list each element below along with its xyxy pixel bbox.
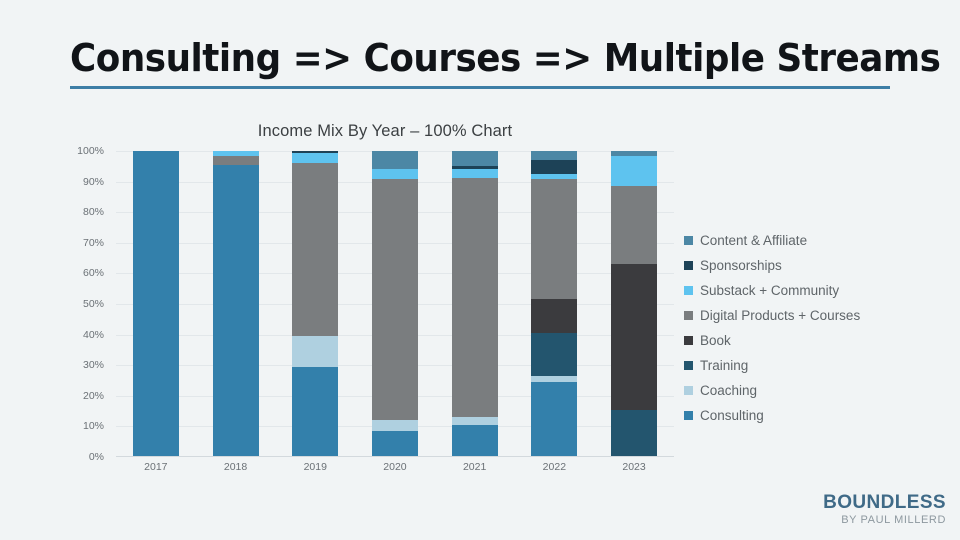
bar-segment[interactable]	[531, 179, 577, 300]
bar-segment[interactable]	[531, 382, 577, 457]
bar-segment[interactable]	[452, 169, 498, 178]
slide-title-block: Consulting => Courses => Multiple Stream…	[70, 38, 890, 89]
y-axis-tick-label: 0%	[89, 451, 104, 463]
x-axis-tick-label: 2019	[292, 461, 338, 473]
y-axis-tick-label: 10%	[83, 420, 104, 432]
legend-item-label: Book	[700, 333, 731, 348]
x-axis-tick-label: 2017	[133, 461, 179, 473]
y-axis-tick-label: 20%	[83, 390, 104, 402]
y-axis-tick-label: 70%	[83, 237, 104, 249]
legend-item-label: Training	[700, 358, 748, 373]
bar-segment[interactable]	[452, 178, 498, 417]
legend-swatch-icon	[684, 286, 693, 295]
stacked-bars	[116, 151, 674, 457]
y-axis-tick-label: 90%	[83, 176, 104, 188]
bar-segment[interactable]	[372, 169, 418, 178]
y-axis: 100%90%80%70%60%50%40%30%20%10%0%	[60, 151, 110, 457]
bar-segment[interactable]	[611, 186, 657, 264]
x-axis-tick-label: 2022	[531, 461, 577, 473]
brand-logo: BOUNDLESS BY PAUL MILLERD	[823, 493, 946, 526]
legend-item[interactable]: Sponsorships	[684, 253, 934, 278]
legend-item-label: Coaching	[700, 383, 757, 398]
legend-item[interactable]: Substack + Community	[684, 278, 934, 303]
bar-segment[interactable]	[292, 367, 338, 457]
bar-segment[interactable]	[292, 336, 338, 367]
logo-main-text: BOUNDLESS	[823, 493, 946, 512]
bar-segment[interactable]	[452, 151, 498, 166]
bar-segment[interactable]	[292, 163, 338, 336]
x-axis: 2017201820192020202120222023	[116, 461, 674, 473]
legend-item-label: Substack + Community	[700, 283, 839, 298]
page-title: Consulting => Courses => Multiple Stream…	[70, 38, 841, 79]
bar-segment[interactable]	[292, 153, 338, 163]
bar-segment[interactable]	[531, 299, 577, 333]
y-axis-tick-label: 100%	[77, 145, 104, 157]
legend-item-label: Consulting	[700, 408, 764, 423]
bar-segment[interactable]	[531, 160, 577, 174]
x-axis-tick-label: 2018	[213, 461, 259, 473]
legend-item-label: Content & Affiliate	[700, 233, 807, 248]
bar-column-2023[interactable]	[611, 151, 657, 457]
bar-segment[interactable]	[372, 179, 418, 421]
bar-segment[interactable]	[372, 420, 418, 431]
legend-item[interactable]: Digital Products + Courses	[684, 303, 934, 328]
legend-item[interactable]: Content & Affiliate	[684, 228, 934, 253]
legend-item-label: Sponsorships	[700, 258, 782, 273]
legend-item[interactable]: Training	[684, 353, 934, 378]
y-axis-tick-label: 30%	[83, 359, 104, 371]
bar-segment[interactable]	[213, 165, 259, 457]
legend-swatch-icon	[684, 386, 693, 395]
y-axis-tick-label: 80%	[83, 206, 104, 218]
x-axis-tick-label: 2023	[611, 461, 657, 473]
legend-swatch-icon	[684, 236, 693, 245]
legend-swatch-icon	[684, 311, 693, 320]
bar-segment[interactable]	[531, 151, 577, 160]
legend-item[interactable]: Coaching	[684, 378, 934, 403]
chart-legend: Content & AffiliateSponsorshipsSubstack …	[684, 228, 934, 428]
bar-column-2017[interactable]	[133, 151, 179, 457]
bar-segment[interactable]	[531, 333, 577, 376]
bar-segment[interactable]	[213, 156, 259, 165]
plot-area	[116, 151, 674, 457]
bar-segment[interactable]	[611, 156, 657, 187]
y-axis-tick-label: 60%	[83, 267, 104, 279]
legend-item[interactable]: Book	[684, 328, 934, 353]
legend-item-label: Digital Products + Courses	[700, 308, 860, 323]
chart-title: Income Mix By Year – 100% Chart	[90, 122, 680, 141]
legend-swatch-icon	[684, 411, 693, 420]
chart-container: Income Mix By Year – 100% Chart 100%90%8…	[60, 122, 680, 492]
bar-segment[interactable]	[452, 425, 498, 457]
bar-column-2018[interactable]	[213, 151, 259, 457]
y-axis-tick-label: 40%	[83, 329, 104, 341]
y-axis-tick-label: 50%	[83, 298, 104, 310]
bar-segment[interactable]	[611, 410, 657, 457]
logo-subtitle-text: BY PAUL MILLERD	[823, 515, 946, 526]
bar-segment[interactable]	[372, 151, 418, 169]
bar-column-2021[interactable]	[452, 151, 498, 457]
bar-segment[interactable]	[133, 151, 179, 457]
plot-wrapper: 100%90%80%70%60%50%40%30%20%10%0% 201720…	[60, 151, 680, 463]
bar-column-2019[interactable]	[292, 151, 338, 457]
bar-segment[interactable]	[611, 264, 657, 409]
bar-segment[interactable]	[452, 417, 498, 425]
x-axis-tick-label: 2020	[372, 461, 418, 473]
legend-item[interactable]: Consulting	[684, 403, 934, 428]
x-axis-tick-label: 2021	[452, 461, 498, 473]
bar-column-2022[interactable]	[531, 151, 577, 457]
title-underline-rule	[70, 86, 890, 89]
legend-swatch-icon	[684, 261, 693, 270]
bar-column-2020[interactable]	[372, 151, 418, 457]
x-axis-line	[116, 456, 674, 457]
legend-swatch-icon	[684, 336, 693, 345]
legend-swatch-icon	[684, 361, 693, 370]
bar-segment[interactable]	[372, 431, 418, 457]
